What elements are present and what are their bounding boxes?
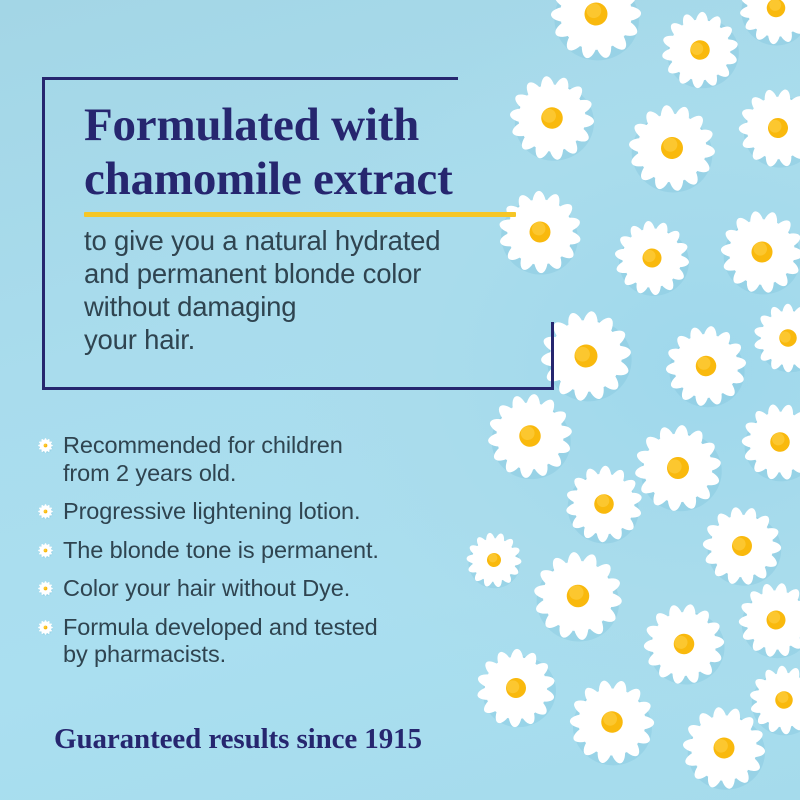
feature-bullet-label: Color your hair without Dye. (63, 575, 350, 601)
daisy-flower (677, 701, 772, 796)
daisy-flower (622, 412, 735, 525)
daisy-flower (633, 593, 734, 694)
daisy-flower (560, 670, 664, 774)
daisy-flower (617, 93, 728, 204)
feature-bullet-label: Progressive lightening lotion. (63, 498, 360, 524)
frame-left-edge (42, 77, 45, 390)
daisy-flower (733, 395, 800, 490)
daisy-flower (710, 200, 800, 304)
daisy-flower (738, 654, 800, 745)
promo-poster: Formulated with chamomile extract to giv… (0, 0, 800, 800)
feature-bullet-item: Formula developed and tested by pharmaci… (38, 614, 508, 669)
yellow-divider (84, 212, 516, 217)
page-title: Formulated with chamomile extract (84, 98, 554, 206)
frame-right-edge (551, 322, 554, 390)
daisy-flower (649, 0, 751, 101)
daisy-bullet-icon (38, 438, 53, 453)
headline-block: Formulated with chamomile extract (84, 98, 554, 206)
daisy-flower (541, 0, 650, 69)
daisy-flower (610, 216, 694, 300)
footer-tagline: Guaranteed results since 1915 (54, 722, 422, 756)
daisy-flower (660, 320, 753, 413)
daisy-flower (520, 538, 635, 653)
daisy-flower (696, 500, 789, 593)
feature-bullet-label: Recommended for children from 2 years ol… (63, 432, 343, 486)
daisy-bullet-icon (38, 581, 53, 596)
daisy-bullet-icon (38, 504, 53, 519)
frame-top-edge (42, 77, 458, 80)
daisy-flower (732, 576, 800, 664)
feature-bullet-item: The blonde tone is permanent. (38, 537, 508, 565)
daisy-bullet-icon (38, 620, 53, 635)
subheading-text: to give you a natural hydrated and perma… (84, 224, 544, 356)
feature-bullet-label: The blonde tone is permanent. (63, 537, 379, 563)
daisy-bullet-icon (38, 543, 53, 558)
daisy-flower (725, 0, 800, 59)
daisy-flower (741, 291, 800, 385)
feature-bullet-item: Progressive lightening lotion. (38, 498, 508, 526)
feature-bullet-list: Recommended for children from 2 years ol… (38, 432, 508, 669)
daisy-flower (730, 80, 800, 177)
feature-bullet-label: Formula developed and tested by pharmaci… (63, 614, 378, 668)
feature-bullet-item: Recommended for children from 2 years ol… (38, 432, 508, 487)
daisy-flower (551, 451, 656, 556)
feature-bullet-item: Color your hair without Dye. (38, 575, 508, 603)
frame-bottom-edge (42, 387, 554, 390)
